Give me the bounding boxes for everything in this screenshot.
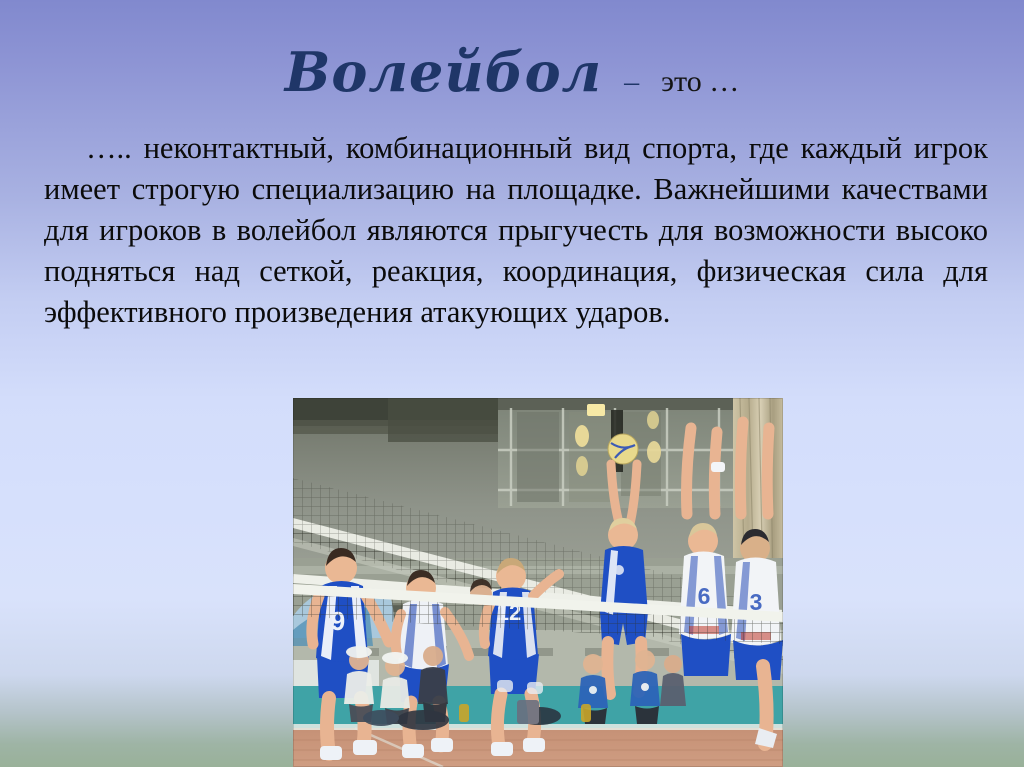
title-main-word: Волейбол [285, 40, 602, 104]
title-tail: это … [649, 65, 739, 98]
slide-canvas: Волейбол–это … ….. неконтактный, комбина… [0, 0, 1024, 767]
volleyball-photo: 6 3 [293, 398, 783, 767]
slide-title: Волейбол–это … [0, 40, 1024, 104]
svg-text:6: 6 [698, 583, 711, 609]
volleyball-photo-illustration: 6 3 [293, 398, 783, 767]
body-paragraph: ….. неконтактный, комбинационный вид спо… [44, 128, 988, 333]
title-dash: – [602, 65, 649, 98]
